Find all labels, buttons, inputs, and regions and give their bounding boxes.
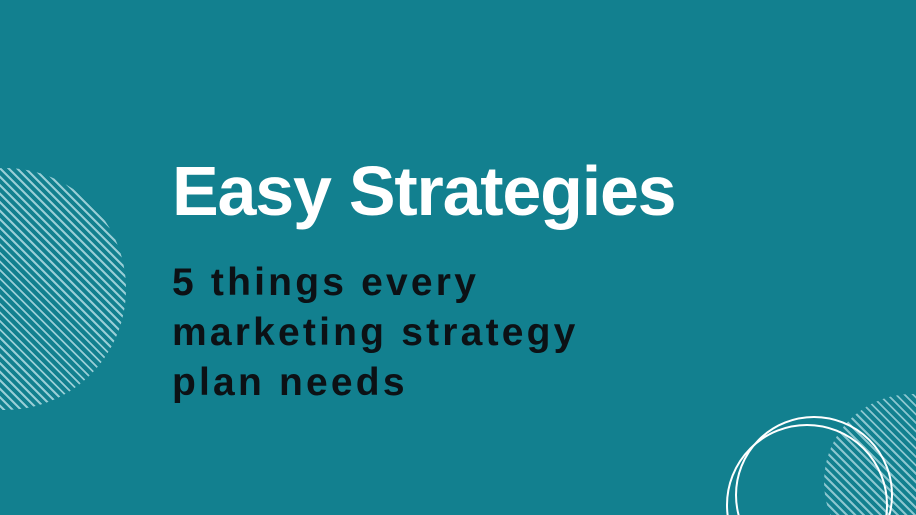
slide-subtitle: 5 things every marketing strategy plan n… [172, 258, 732, 408]
ring-outline-inner-decoration [735, 416, 893, 515]
presentation-slide: Easy Strategies 5 things every marketing… [0, 0, 916, 515]
striped-circle-right-decoration [824, 394, 916, 515]
striped-circle-left-decoration [0, 168, 126, 410]
ring-outline-outer-decoration [726, 424, 888, 515]
slide-subtitle-line: 5 things every [172, 258, 732, 308]
slide-title: Easy Strategies [172, 156, 675, 226]
slide-subtitle-line: plan needs [172, 358, 732, 408]
slide-subtitle-line: marketing strategy [172, 308, 732, 358]
